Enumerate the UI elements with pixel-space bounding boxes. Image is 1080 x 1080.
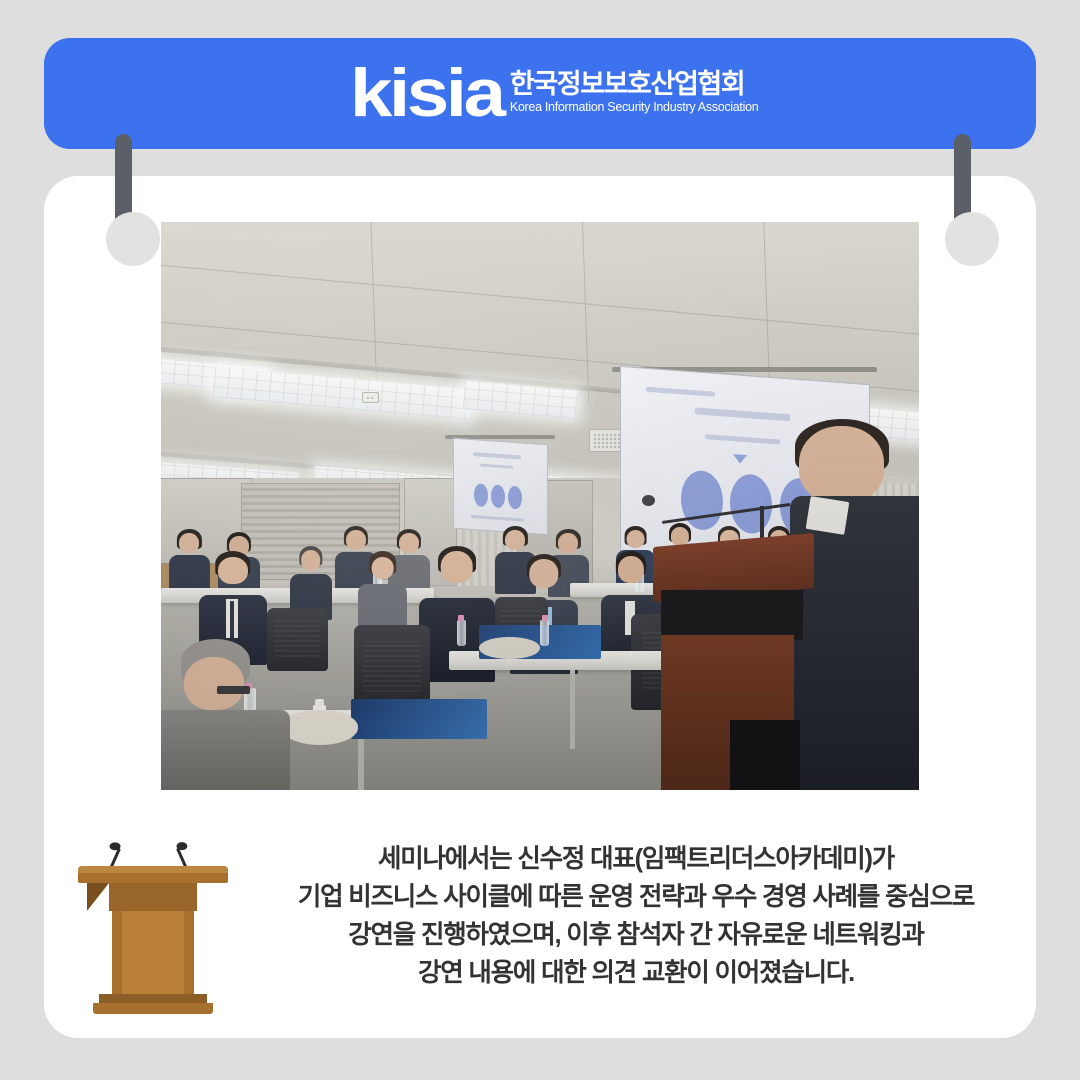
person-head (618, 556, 644, 583)
table-leg (570, 670, 575, 750)
presenter-collar (806, 496, 850, 534)
slide-arrow-icon (732, 454, 746, 464)
slide-circle (491, 484, 505, 508)
presenter (790, 426, 919, 790)
ceiling-projector (362, 392, 379, 402)
person-head (218, 557, 248, 584)
caption-line-1: 세미나에서는 신수정 대표(임팩트리더스아카데미)가 (248, 840, 1024, 878)
podium-column-highlight (122, 911, 184, 996)
photo-podium (657, 540, 809, 790)
caption-line-4: 강연 내용에 대한 의견 교환이 이어졌습니다. (248, 954, 1024, 992)
slide-label-bar (645, 387, 714, 397)
person-head (626, 530, 645, 549)
presenter-head (799, 426, 884, 502)
person-head (371, 557, 394, 579)
podium-foot-lower (93, 1003, 213, 1014)
podium-top-highlight (78, 866, 228, 873)
caption-text: 세미나에서는 신수정 대표(임팩트리더스아카데미)가 기업 비즈니스 사이클에 … (248, 840, 1024, 992)
organization-name-block: 한국정보보호산업협회 Korea Information Security In… (510, 71, 759, 116)
audience-person (358, 551, 407, 636)
organization-name-english: Korea Information Security Industry Asso… (510, 101, 759, 114)
snack-bowl (282, 710, 358, 744)
water-bottle (540, 620, 549, 646)
kisia-logo: kisia 한국정보보호산업협회 Korea Information Secur… (350, 66, 759, 122)
slide-circle (508, 485, 522, 509)
slide-title-bar (695, 408, 789, 422)
brochure (351, 699, 487, 739)
table-leg (358, 733, 364, 790)
person-tie (230, 601, 235, 637)
person-head (184, 657, 245, 710)
person-head (399, 533, 419, 553)
kisia-wordmark-icon: kisia (350, 66, 512, 122)
eyeglasses-icon (217, 686, 250, 693)
pin-knob-icon (106, 212, 160, 266)
person-head (346, 530, 366, 550)
podium-foot-upper (99, 994, 207, 1003)
person-jacket (161, 710, 290, 790)
slide-footer-bar (471, 514, 525, 521)
seminar-photo (161, 222, 919, 790)
slide-subtitle-bar (705, 434, 779, 444)
water-bottle (457, 620, 466, 646)
caption-row: 세미나에서는 신수정 대표(임팩트리더스아카데미)가 기업 비즈니스 사이클에 … (44, 826, 1036, 1026)
person-head (179, 533, 199, 553)
microphone-head-icon (642, 495, 655, 506)
person-head (440, 551, 473, 582)
person-head (505, 530, 525, 550)
caption-line-3: 강연을 진행하였으며, 이후 참석자 간 자유로운 네트워킹과 (248, 916, 1024, 954)
office-chair (354, 625, 430, 710)
slide-subtitle-bar (480, 463, 513, 468)
hanging-pin-left (106, 134, 160, 266)
podium-front-panel (109, 883, 197, 911)
hanging-pin-right (945, 134, 999, 266)
person-head (529, 559, 558, 588)
podium-shelf (730, 720, 800, 790)
podium-skirt-left (87, 883, 109, 911)
organization-name-korean: 한국정보보호산업협회 (510, 71, 759, 98)
foreground-attendee (161, 648, 290, 790)
slide-title-bar (472, 452, 520, 459)
person-head (301, 550, 321, 571)
podium-panel (661, 590, 803, 640)
header-bar: kisia 한국정보보호산업협회 Korea Information Secur… (44, 38, 1036, 149)
projection-screen-secondary (453, 437, 548, 535)
pin-knob-icon (945, 212, 999, 266)
podium-icon (64, 834, 242, 1020)
person-head (558, 533, 578, 553)
snack-bowl (479, 637, 540, 660)
slide-circle (474, 483, 488, 507)
caption-line-2: 기업 비즈니스 사이클에 따른 운영 전략과 우수 경영 사례를 중심으로 (248, 878, 1024, 916)
